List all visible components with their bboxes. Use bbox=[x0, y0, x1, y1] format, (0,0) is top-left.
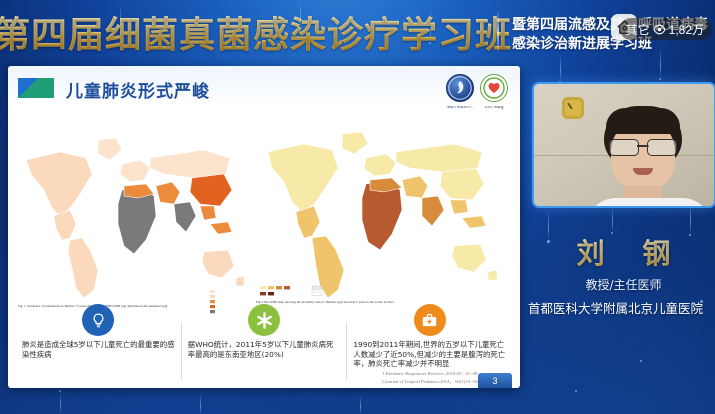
key-points-group: 肺炎是造成全球5岁以下儿童死亡的最重要的感染性疾病 据WHO统计，2011年5岁… bbox=[16, 322, 512, 380]
eye-icon bbox=[653, 23, 666, 36]
blue-institution-logo: 国家儿童医学中心 bbox=[446, 74, 474, 102]
medical-briefcase-icon bbox=[414, 304, 446, 336]
key-point-card: 1990到2011年期间,世界的五岁以下儿童死亡人数减少了近50%,但减少的主要… bbox=[346, 322, 512, 380]
key-point-text: 据WHO统计，2011年5岁以下儿童肺炎病死率最高的是东南亚地区(20%) bbox=[188, 340, 341, 359]
key-point-card: 据WHO统计，2011年5岁以下儿童肺炎病死率最高的是东南亚地区(20%) bbox=[181, 322, 347, 380]
slide-page-number: 3 bbox=[478, 373, 512, 388]
slide-title: 儿童肺炎形式严峻 bbox=[66, 77, 210, 102]
wall-clock-icon bbox=[562, 97, 584, 119]
key-point-text: 1990到2011年期间,世界的五岁以下儿童死亡人数减少了近50%,但减少的主要… bbox=[353, 340, 506, 369]
medical-star-icon bbox=[248, 304, 280, 336]
presenter-role: 教授/主任医师 bbox=[532, 276, 715, 293]
slide-logo-group: 国家儿童医学中心 北京儿童医院 bbox=[446, 74, 508, 102]
presenter-figure bbox=[590, 106, 702, 206]
event-header: 第四届细菌真菌感染诊疗学习班 暨第四届流感及其它呼吸道病毒感染诊治新进展学习班 bbox=[0, 0, 715, 62]
title-divider bbox=[497, 10, 499, 54]
broadcast-stage: 第四届细菌真菌感染诊疗学习班 暨第四届流感及其它呼吸道病毒感染诊治新进展学习班 … bbox=[0, 0, 715, 414]
presenter-name: 刘 钢 bbox=[532, 232, 715, 272]
lightbulb-icon bbox=[82, 304, 114, 336]
world-map-incidence: Fig. 1. Incidence of pneumonia in childr… bbox=[14, 112, 246, 317]
green-institution-logo: 北京儿童医院 bbox=[480, 74, 508, 102]
key-point-text: 肺炎是造成全球5岁以下儿童死亡的最重要的感染性疾病 bbox=[22, 340, 175, 359]
presentation-slide[interactable]: 儿童肺炎形式严峻 国家儿童医学中心 北京儿童医院 bbox=[8, 66, 520, 388]
presenter-video-feed[interactable] bbox=[532, 82, 715, 208]
key-point-card: 肺炎是造成全球5岁以下儿童死亡的最重要的感染性疾病 bbox=[16, 322, 181, 380]
figure-caption-right: Fig.2 The WHO map showing the mortality … bbox=[256, 300, 394, 304]
glasses-icon bbox=[609, 139, 677, 154]
event-main-title: 第四届细菌真菌感染诊疗学习班 bbox=[0, 6, 512, 58]
viewer-count-badge[interactable]: 其它 1,82万 bbox=[620, 18, 712, 40]
world-map-mortality: Fig.2 The WHO map showing the mortality … bbox=[254, 108, 502, 313]
ribbon-logo-icon bbox=[18, 78, 54, 98]
viewer-count-value: 1,82万 bbox=[669, 21, 704, 38]
badge-category-label: 其它 bbox=[626, 21, 650, 38]
presenter-affiliation: 首都医科大学附属北京儿童医院 bbox=[528, 298, 715, 317]
